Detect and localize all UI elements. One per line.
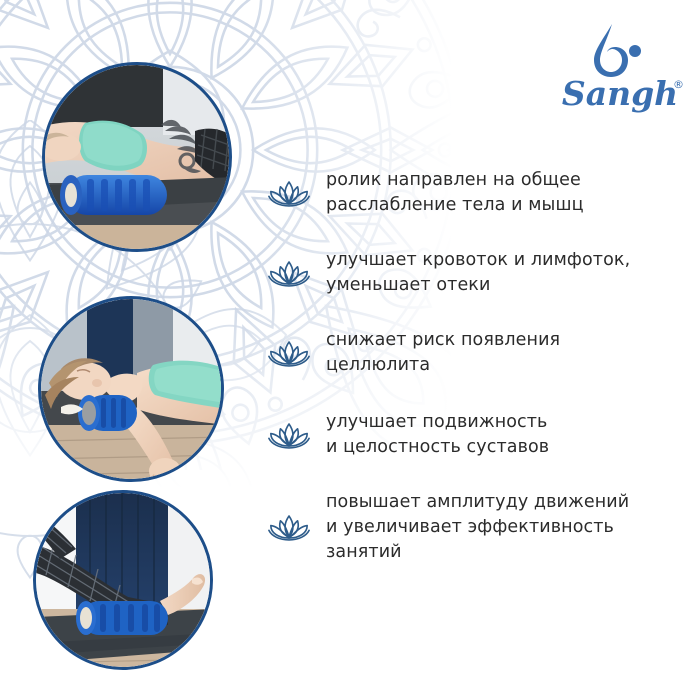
benefit-item-2: улучшает кровоток и лимфоток, уменьшает … — [266, 248, 694, 298]
benefit-item-4: улучшает подвижность и целостность суста… — [266, 410, 694, 460]
photo-3-illustration — [36, 493, 210, 667]
photo-legs-on-roller — [33, 490, 213, 670]
benefit-text-5: повышает амплитуду движений и увеличивае… — [326, 490, 629, 565]
brand-logo: Sangh ® — [554, 22, 686, 114]
benefits-list: ролик направлен на общее расслабление те… — [266, 168, 694, 591]
benefit-text-1: ролик направлен на общее расслабление те… — [326, 168, 584, 218]
photo-1-illustration — [45, 65, 229, 249]
lotus-icon — [266, 417, 312, 453]
infographic-canvas: Sangh ® ролик направлен на о — [0, 0, 700, 700]
lotus-icon — [266, 510, 312, 546]
benefit-item-5: повышает амплитуду движений и увеличивае… — [266, 490, 694, 565]
benefit-item-1: ролик направлен на общее расслабление те… — [266, 168, 694, 218]
benefit-text-2: улучшает кровоток и лимфоток, уменьшает … — [326, 248, 630, 298]
brand-name-text: Sangh — [562, 74, 678, 113]
water-drop-leaf-icon — [582, 22, 652, 78]
lotus-icon — [266, 175, 312, 211]
lotus-icon — [266, 335, 312, 371]
registered-trademark-symbol: ® — [673, 78, 684, 91]
photo-2-illustration — [41, 299, 221, 479]
benefit-text-3: снижает риск появления целлюлита — [326, 328, 560, 378]
photo-woman-back-on-foam-roller — [42, 62, 232, 252]
brand-wordmark: Sangh — [554, 74, 686, 114]
lotus-icon — [266, 255, 312, 291]
photo-woman-neck-on-roller — [38, 296, 224, 482]
benefit-text-4: улучшает подвижность и целостность суста… — [326, 410, 549, 460]
benefit-item-3: снижает риск появления целлюлита — [266, 328, 694, 378]
